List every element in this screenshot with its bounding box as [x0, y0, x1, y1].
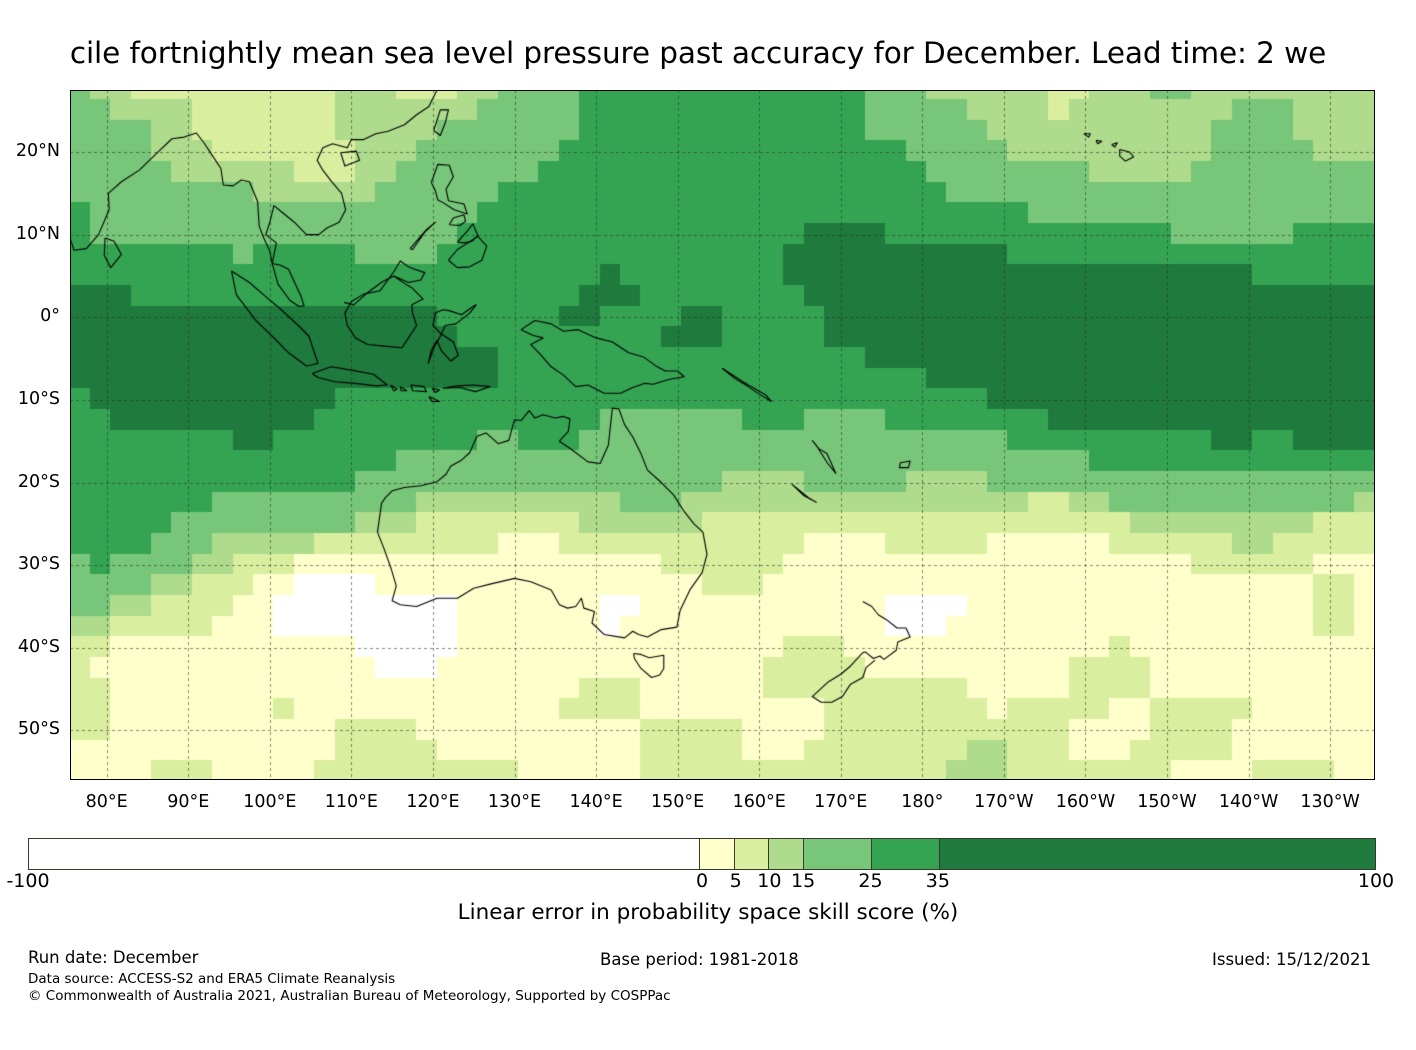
- colorbar-title: Linear error in probability space skill …: [0, 900, 1416, 926]
- issued-date: Issued: 15/12/2021: [1212, 950, 1371, 970]
- map-plot: [70, 90, 1375, 780]
- latitude-tick-label: 50°S: [0, 721, 60, 739]
- latitude-tick-label: 10°S: [0, 391, 60, 409]
- latitude-tick-label: 20°N: [0, 143, 60, 161]
- colorbar-segment: [734, 839, 769, 869]
- longitude-tick-label: 90°E: [143, 794, 233, 812]
- page-title: cile fortnightly mean sea level pressure…: [0, 30, 1416, 76]
- colorbar-tick-label: 100: [1316, 872, 1416, 891]
- longitude-tick-label: 80°E: [62, 794, 152, 812]
- longitude-tick-label: 150°W: [1122, 794, 1212, 812]
- colorbar-segment: [768, 839, 803, 869]
- latitude-tick-label: 30°S: [0, 556, 60, 574]
- copyright-notice: © Commonwealth of Australia 2021, Austra…: [28, 988, 671, 1005]
- longitude-tick-label: 140°W: [1204, 794, 1294, 812]
- longitude-tick-label: 140°E: [551, 794, 641, 812]
- colorbar-segment: [871, 839, 939, 869]
- data-source: Data source: ACCESS-S2 and ERA5 Climate …: [28, 971, 395, 988]
- colorbar-segment: [939, 839, 1376, 869]
- colorbar-segment: [29, 839, 699, 869]
- longitude-tick-label: 170°W: [959, 794, 1049, 812]
- longitude-tick-label: 160°E: [714, 794, 804, 812]
- longitude-tick-label: 110°E: [306, 794, 396, 812]
- latitude-tick-label: 10°N: [0, 226, 60, 244]
- longitude-tick-label: 180°: [877, 794, 967, 812]
- colorbar: [28, 838, 1376, 870]
- longitude-tick-label: 130°W: [1285, 794, 1375, 812]
- longitude-tick-label: 120°E: [388, 794, 478, 812]
- page-title-text: cile fortnightly mean sea level pressure…: [70, 30, 1326, 76]
- latitude-tick-label: 40°S: [0, 639, 60, 657]
- longitude-tick-label: 170°E: [796, 794, 886, 812]
- colorbar-segment: [699, 839, 734, 869]
- latitude-tick-label: 20°S: [0, 474, 60, 492]
- colorbar-tick-label: -100: [0, 872, 88, 891]
- longitude-tick-label: 150°E: [633, 794, 723, 812]
- longitude-tick-label: 160°W: [1040, 794, 1130, 812]
- skill-score-heatmap: [70, 90, 1375, 780]
- longitude-tick-label: 100°E: [225, 794, 315, 812]
- longitude-tick-label: 130°E: [470, 794, 560, 812]
- base-period: Base period: 1981-2018: [600, 950, 799, 970]
- latitude-tick-label: 0°: [0, 308, 60, 326]
- colorbar-segment: [803, 839, 871, 869]
- run-date: Run date: December: [28, 948, 198, 968]
- colorbar-tick-label: 35: [878, 872, 998, 891]
